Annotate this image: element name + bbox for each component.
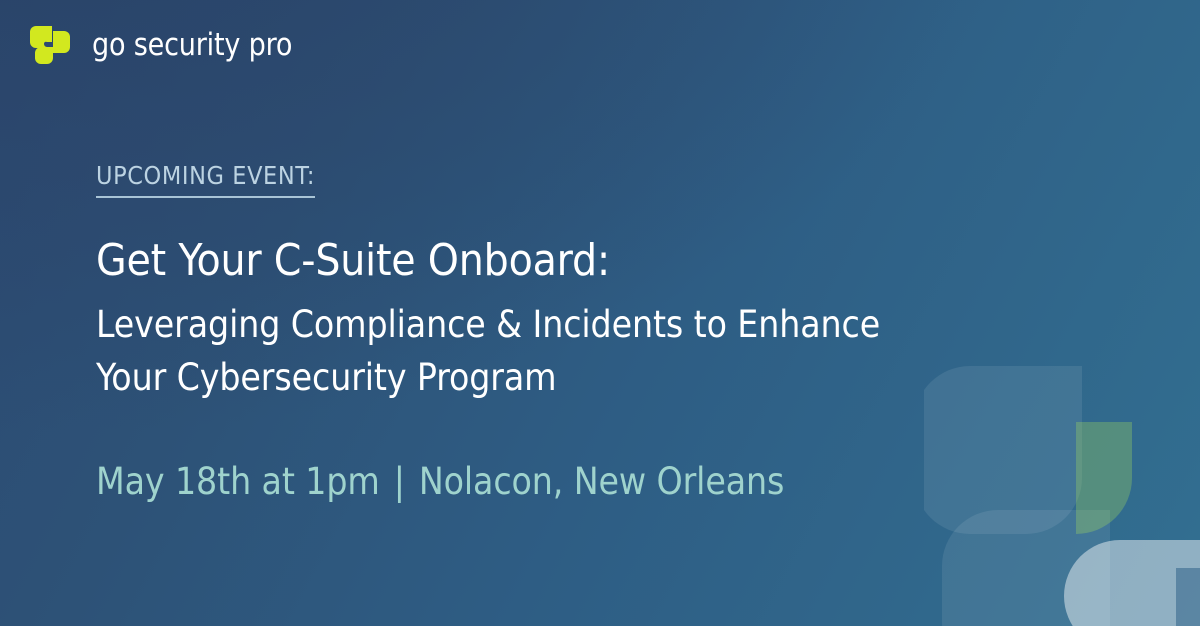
subtitle-line-1: Leveraging Compliance & Incidents to Enh… bbox=[96, 299, 1056, 352]
subtitle-line-2: Your Cybersecurity Program bbox=[96, 352, 1056, 405]
subtitle: Leveraging Compliance & Incidents to Enh… bbox=[96, 299, 1056, 404]
event-details: May 18th at 1pm|Nolacon, New Orleans bbox=[96, 460, 1056, 504]
brand-wordmark: go security pro bbox=[92, 30, 292, 61]
go-security-pro-logo-icon bbox=[30, 22, 76, 68]
event-date: May 18th at 1pm bbox=[96, 460, 380, 503]
page-title: Get Your C-Suite Onboard: bbox=[96, 236, 1056, 285]
eyebrow-label: UPCOMING EVENT: bbox=[96, 162, 315, 198]
brand-lockup[interactable]: go security pro bbox=[30, 22, 298, 68]
event-location: Nolacon, New Orleans bbox=[419, 460, 784, 503]
banner-content: UPCOMING EVENT: Get Your C-Suite Onboard… bbox=[96, 162, 1056, 504]
event-detail-separator: | bbox=[380, 460, 419, 503]
event-announcement-banner: go security pro UPCOMING EVENT: Get Your… bbox=[0, 0, 1200, 626]
